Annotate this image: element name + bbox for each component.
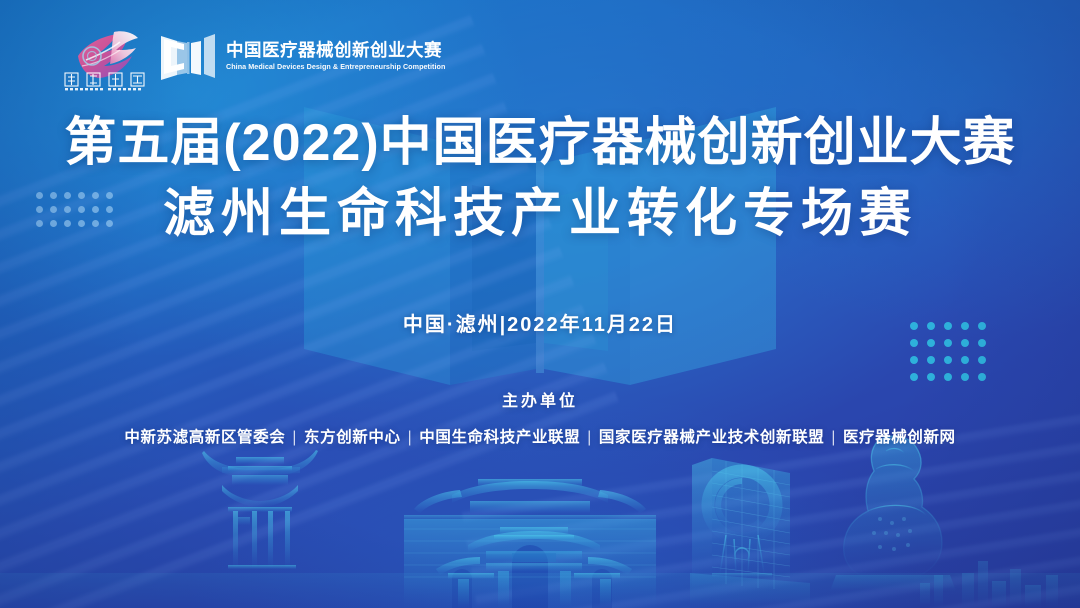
organizer-separator: | [285,429,304,446]
innovation-china-latin-caption [65,88,141,90]
landmark-modern-office-tower [690,458,810,608]
innovation-china-logo [62,26,162,92]
location-date-line: 中国·滤州|2022年11月22日 [0,308,1080,337]
landmark-chinese-paifang-archway [436,521,632,608]
landmark-chinese-city-gate [404,479,656,608]
open-book-door-icon [160,30,216,82]
competition-logo-cn-text: 中国医疗器械创新创业大赛 [226,41,445,59]
poster-canvas: 中国医疗器械创新创业大赛 China Medical Devices Desig… [0,0,1080,608]
title-block: 第五届(2022)中国医疗器械创新创业大赛 滤州生命科技产业转化专场赛 [0,112,1080,248]
organizer-item: 国家医疗器械产业技术创新联盟 [599,429,824,446]
title-line-2: 滤州生命科技产业转化专场赛 [0,181,1080,248]
organizer-separator: | [824,429,843,446]
organizers-block: 主办单位 中新苏滤高新区管委会|东方创新中心|中国生命科技产业联盟|国家医疗器械… [0,387,1080,447]
title-line-1: 第五届(2022)中国医疗器械创新创业大赛 [0,112,1080,175]
organizer-item: 中新苏滤高新区管委会 [124,429,285,446]
landmark-merlion-statue [830,436,956,591]
header: 中国医疗器械创新创业大赛 China Medical Devices Desig… [0,0,1080,100]
organizers-list: 中新苏滤高新区管委会|东方创新中心|中国生命科技产业联盟|国家医疗器械产业技术创… [0,425,1080,447]
organizer-item: 东方创新中心 [304,429,401,446]
organizer-separator: | [401,429,420,446]
landmark-city-skyline-silhouette [920,561,1058,608]
organizer-item: 医疗器械创新网 [843,429,956,446]
organizer-item: 中国生命科技产业联盟 [419,429,580,446]
innovation-bird-icon [78,31,138,78]
organizer-separator: | [580,429,599,446]
competition-logo-lockup: 中国医疗器械创新创业大赛 China Medical Devices Desig… [160,28,445,84]
skyline-illustration [0,423,1080,608]
competition-logo-en-text: China Medical Devices Design & Entrepren… [226,62,445,71]
landmark-ring-sculpture-main [708,471,776,577]
organizers-heading: 主办单位 [0,387,1080,411]
landmark-chinese-pavilion [202,450,318,569]
